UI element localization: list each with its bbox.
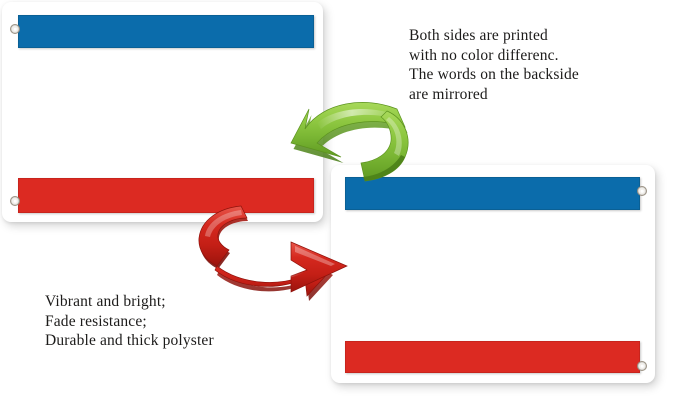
caption-front-side: Vibrant and bright; Fade resistance; Dur… (45, 292, 310, 351)
flag-back-card (331, 165, 655, 383)
product-infographic: Both sides are printed with no color dif… (0, 0, 679, 410)
caption-back-side: Both sides are printed with no color dif… (409, 26, 671, 104)
back-red-stripe (345, 341, 640, 373)
front-blue-stripe (18, 15, 314, 48)
grommet-icon (637, 361, 647, 371)
grommet-icon (10, 196, 20, 206)
grommet-icon (10, 24, 20, 34)
flag-front-card (2, 2, 323, 222)
front-red-stripe (18, 178, 314, 213)
back-blue-stripe (345, 177, 640, 210)
grommet-icon (637, 186, 647, 196)
